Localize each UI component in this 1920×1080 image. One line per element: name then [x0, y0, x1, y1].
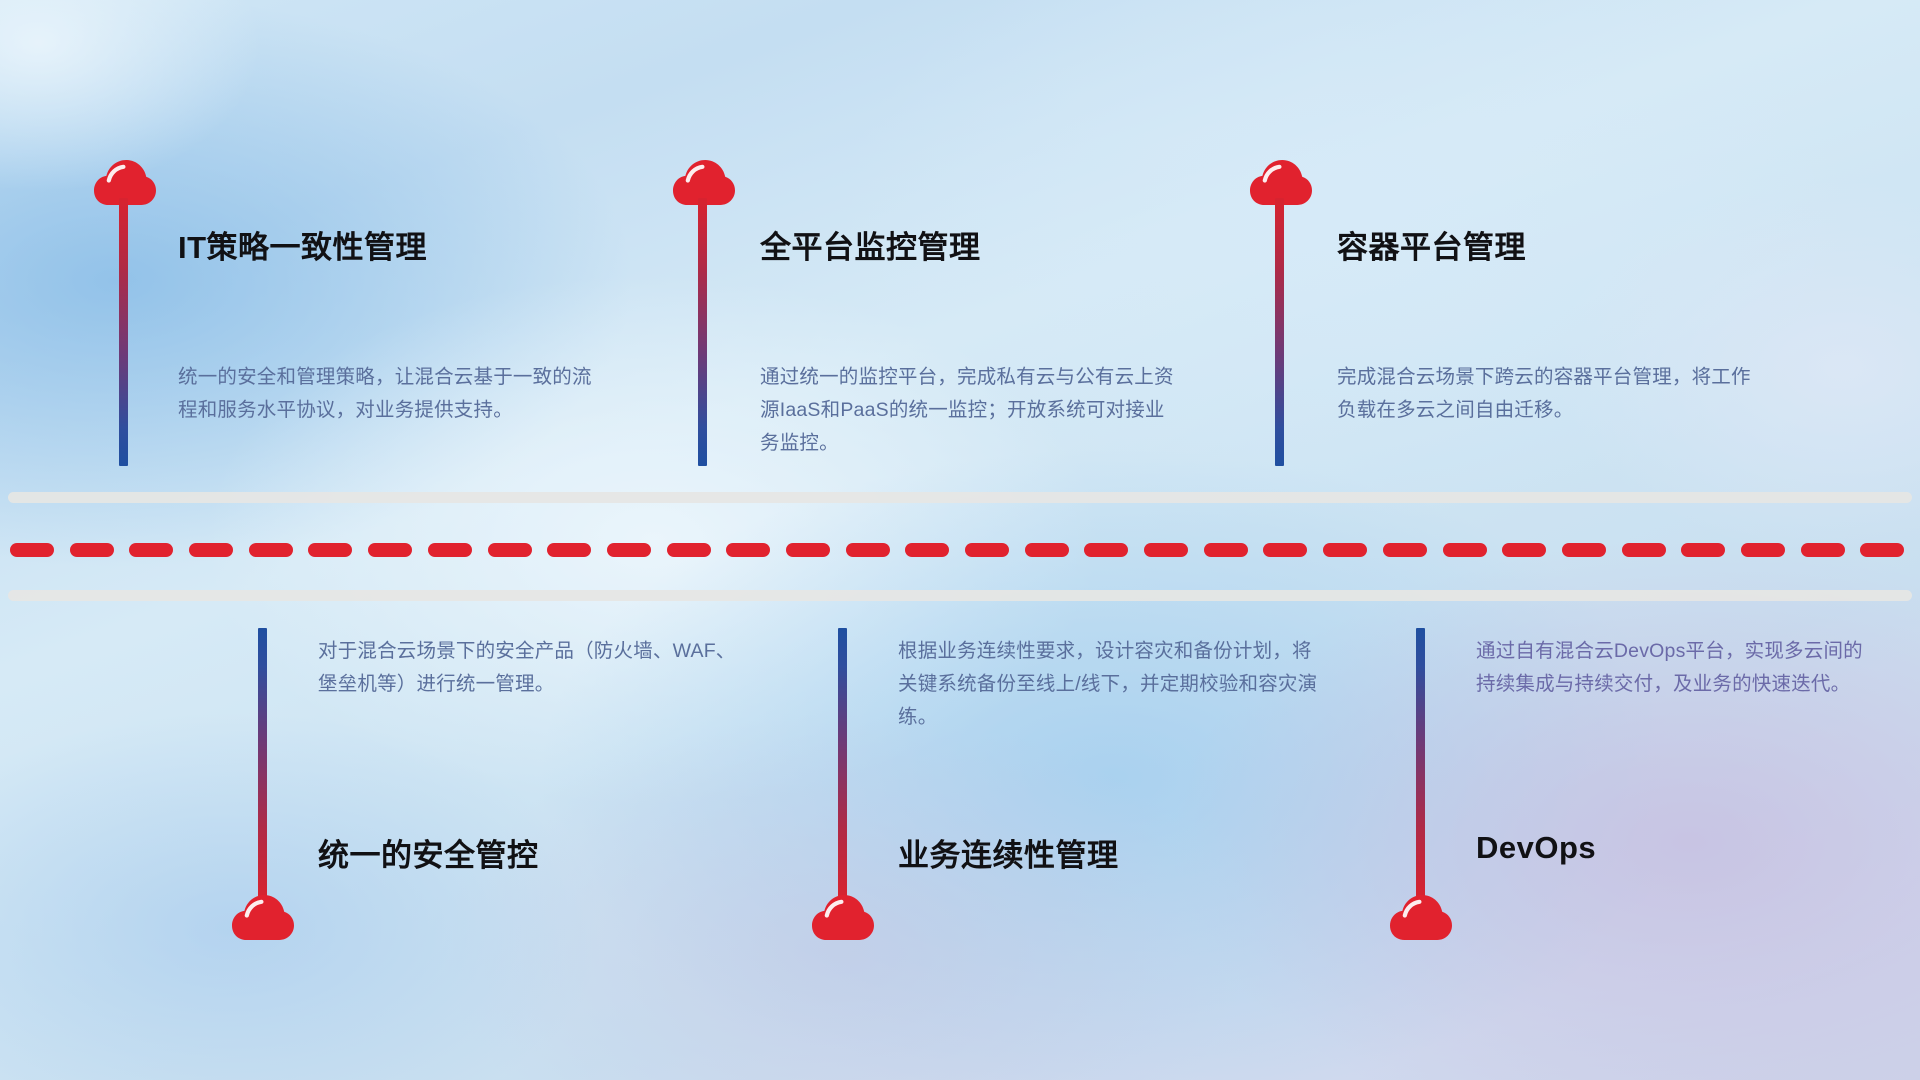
timeline-stem — [1275, 198, 1284, 466]
dash-segment — [846, 543, 890, 557]
dash-segment — [965, 543, 1009, 557]
timeline-stem — [838, 628, 847, 898]
dash-segment — [1383, 543, 1427, 557]
dash-segment — [1741, 543, 1785, 557]
dash-segment — [1025, 543, 1069, 557]
card-body-bottom-3: 通过自有混合云DevOps平台，实现多云间的持续集成与持续交付，及业务的快速迭代… — [1476, 635, 1876, 701]
dash-segment — [428, 543, 472, 557]
cloud-icon — [812, 895, 874, 941]
dash-segment — [667, 543, 711, 557]
cloud-icon — [1390, 895, 1452, 941]
timeline-stem — [119, 198, 128, 466]
dash-segment — [1801, 543, 1845, 557]
cloud-icon — [232, 895, 294, 941]
dash-segment — [1562, 543, 1606, 557]
infographic-canvas: IT策略一致性管理 统一的安全和管理策略，让混合云基于一致的流程和服务水平协议，… — [0, 0, 1920, 1080]
dash-segment — [1323, 543, 1367, 557]
card-body-top-2: 通过统一的监控平台，完成私有云与公有云上资源IaaS和PaaS的统一监控；开放系… — [760, 361, 1175, 460]
dash-segment — [1622, 543, 1666, 557]
dash-segment — [1263, 543, 1307, 557]
dash-segment — [1144, 543, 1188, 557]
dashed-separator-line — [10, 543, 1920, 557]
dash-segment — [905, 543, 949, 557]
dash-segment — [249, 543, 293, 557]
card-heading-top-2: 全平台监控管理 — [760, 222, 981, 267]
dash-segment — [1502, 543, 1546, 557]
card-body-bottom-2: 根据业务连续性要求，设计容灾和备份计划，将关键系统备份至线上/线下，并定期校验和… — [898, 635, 1318, 734]
dash-segment — [607, 543, 651, 557]
dash-segment — [786, 543, 830, 557]
card-heading-top-1: IT策略一致性管理 — [178, 222, 427, 267]
dash-segment — [368, 543, 412, 557]
dash-segment — [547, 543, 591, 557]
divider-bar-top — [8, 492, 1912, 503]
dash-segment — [1860, 543, 1904, 557]
dash-segment — [1204, 543, 1248, 557]
card-body-bottom-1: 对于混合云场景下的安全产品（防火墙、WAF、堡垒机等）进行统一管理。 — [318, 635, 738, 701]
timeline-stem — [258, 628, 267, 898]
dash-segment — [726, 543, 770, 557]
card-heading-top-3: 容器平台管理 — [1337, 222, 1526, 267]
card-body-top-1: 统一的安全和管理策略，让混合云基于一致的流程和服务水平协议，对业务提供支持。 — [178, 361, 593, 427]
dash-segment — [70, 543, 114, 557]
dash-segment — [1443, 543, 1487, 557]
card-heading-bottom-2: 业务连续性管理 — [898, 830, 1119, 875]
card-body-top-3: 完成混合云场景下跨云的容器平台管理，将工作负载在多云之间自由迁移。 — [1337, 361, 1767, 427]
dash-segment — [129, 543, 173, 557]
dash-segment — [189, 543, 233, 557]
card-heading-bottom-3: DevOps — [1476, 830, 1596, 866]
dash-segment — [308, 543, 352, 557]
dash-segment — [488, 543, 532, 557]
card-heading-bottom-1: 统一的安全管控 — [318, 830, 539, 875]
timeline-stem — [698, 198, 707, 466]
dash-segment — [1681, 543, 1725, 557]
timeline-stem — [1416, 628, 1425, 898]
dash-segment — [10, 543, 54, 557]
divider-bar-bottom — [8, 590, 1912, 601]
dash-segment — [1084, 543, 1128, 557]
